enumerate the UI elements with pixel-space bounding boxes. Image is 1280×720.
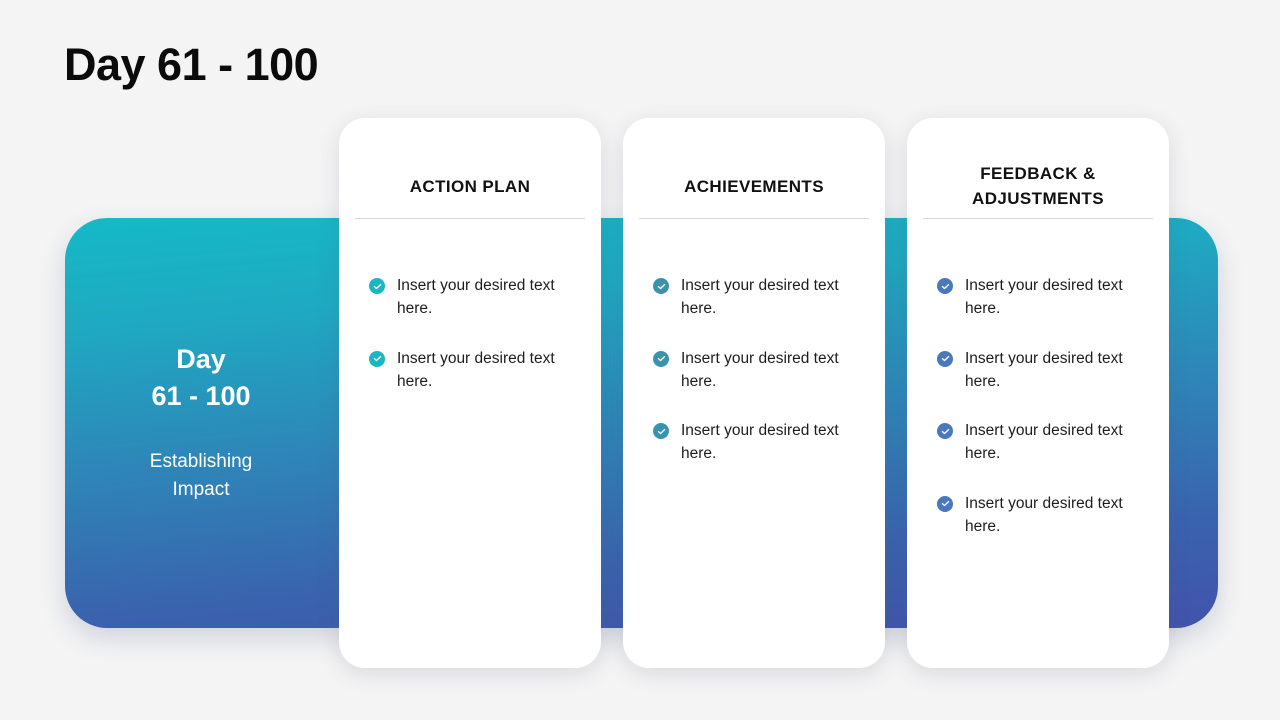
card-list: Insert your desired text here.Insert you… — [653, 274, 867, 492]
check-circle-icon — [653, 278, 669, 294]
list-item-text: Insert your desired text here. — [681, 274, 867, 321]
check-circle-icon — [937, 423, 953, 439]
card-list: Insert your desired text here.Insert you… — [369, 274, 583, 419]
list-item-text: Insert your desired text here. — [965, 347, 1151, 394]
card-title: ACHIEVEMENTS — [684, 137, 824, 200]
card-list: Insert your desired text here.Insert you… — [937, 274, 1151, 564]
check-circle-icon — [653, 423, 669, 439]
check-circle-icon — [653, 351, 669, 367]
card-achievements[interactable]: ACHIEVEMENTS Insert your desired text he… — [623, 118, 885, 668]
list-item: Insert your desired text here. — [653, 419, 867, 466]
list-item-text: Insert your desired text here. — [681, 347, 867, 394]
panel-day-range: 61 - 100 — [151, 378, 250, 414]
list-item-text: Insert your desired text here. — [397, 347, 583, 394]
list-item: Insert your desired text here. — [937, 419, 1151, 466]
list-item-text: Insert your desired text here. — [397, 274, 583, 321]
list-item: Insert your desired text here. — [937, 492, 1151, 539]
card-header: ACTION PLAN — [355, 118, 585, 218]
card-divider — [355, 218, 585, 219]
day-range-panel: Day 61 - 100 Establishing Impact — [65, 218, 337, 628]
card-action-plan[interactable]: ACTION PLAN Insert your desired text her… — [339, 118, 601, 668]
panel-day-label: Day — [176, 341, 226, 377]
list-item: Insert your desired text here. — [369, 347, 583, 394]
list-item: Insert your desired text here. — [937, 347, 1151, 394]
slide-canvas: Day 61 - 100 Day 61 - 100 Establishing I… — [0, 0, 1280, 720]
page-title: Day 61 - 100 — [64, 40, 318, 90]
list-item: Insert your desired text here. — [653, 274, 867, 321]
card-divider — [923, 218, 1153, 219]
check-circle-icon — [937, 278, 953, 294]
check-circle-icon — [937, 496, 953, 512]
card-header: FEEDBACK & ADJUSTMENTS — [923, 118, 1153, 218]
list-item: Insert your desired text here. — [937, 274, 1151, 321]
card-feedback-adjustments[interactable]: FEEDBACK & ADJUSTMENTS Insert your desir… — [907, 118, 1169, 668]
list-item-text: Insert your desired text here. — [965, 492, 1151, 539]
card-title: ACTION PLAN — [410, 137, 531, 200]
card-divider — [639, 218, 869, 219]
list-item-text: Insert your desired text here. — [681, 419, 867, 466]
list-item-text: Insert your desired text here. — [965, 274, 1151, 321]
check-circle-icon — [369, 278, 385, 294]
panel-subtitle: Establishing Impact — [126, 448, 276, 504]
check-circle-icon — [369, 351, 385, 367]
list-item: Insert your desired text here. — [653, 347, 867, 394]
check-circle-icon — [937, 351, 953, 367]
list-item-text: Insert your desired text here. — [965, 419, 1151, 466]
card-title: FEEDBACK & ADJUSTMENTS — [923, 124, 1153, 211]
card-header: ACHIEVEMENTS — [639, 118, 869, 218]
list-item: Insert your desired text here. — [369, 274, 583, 321]
